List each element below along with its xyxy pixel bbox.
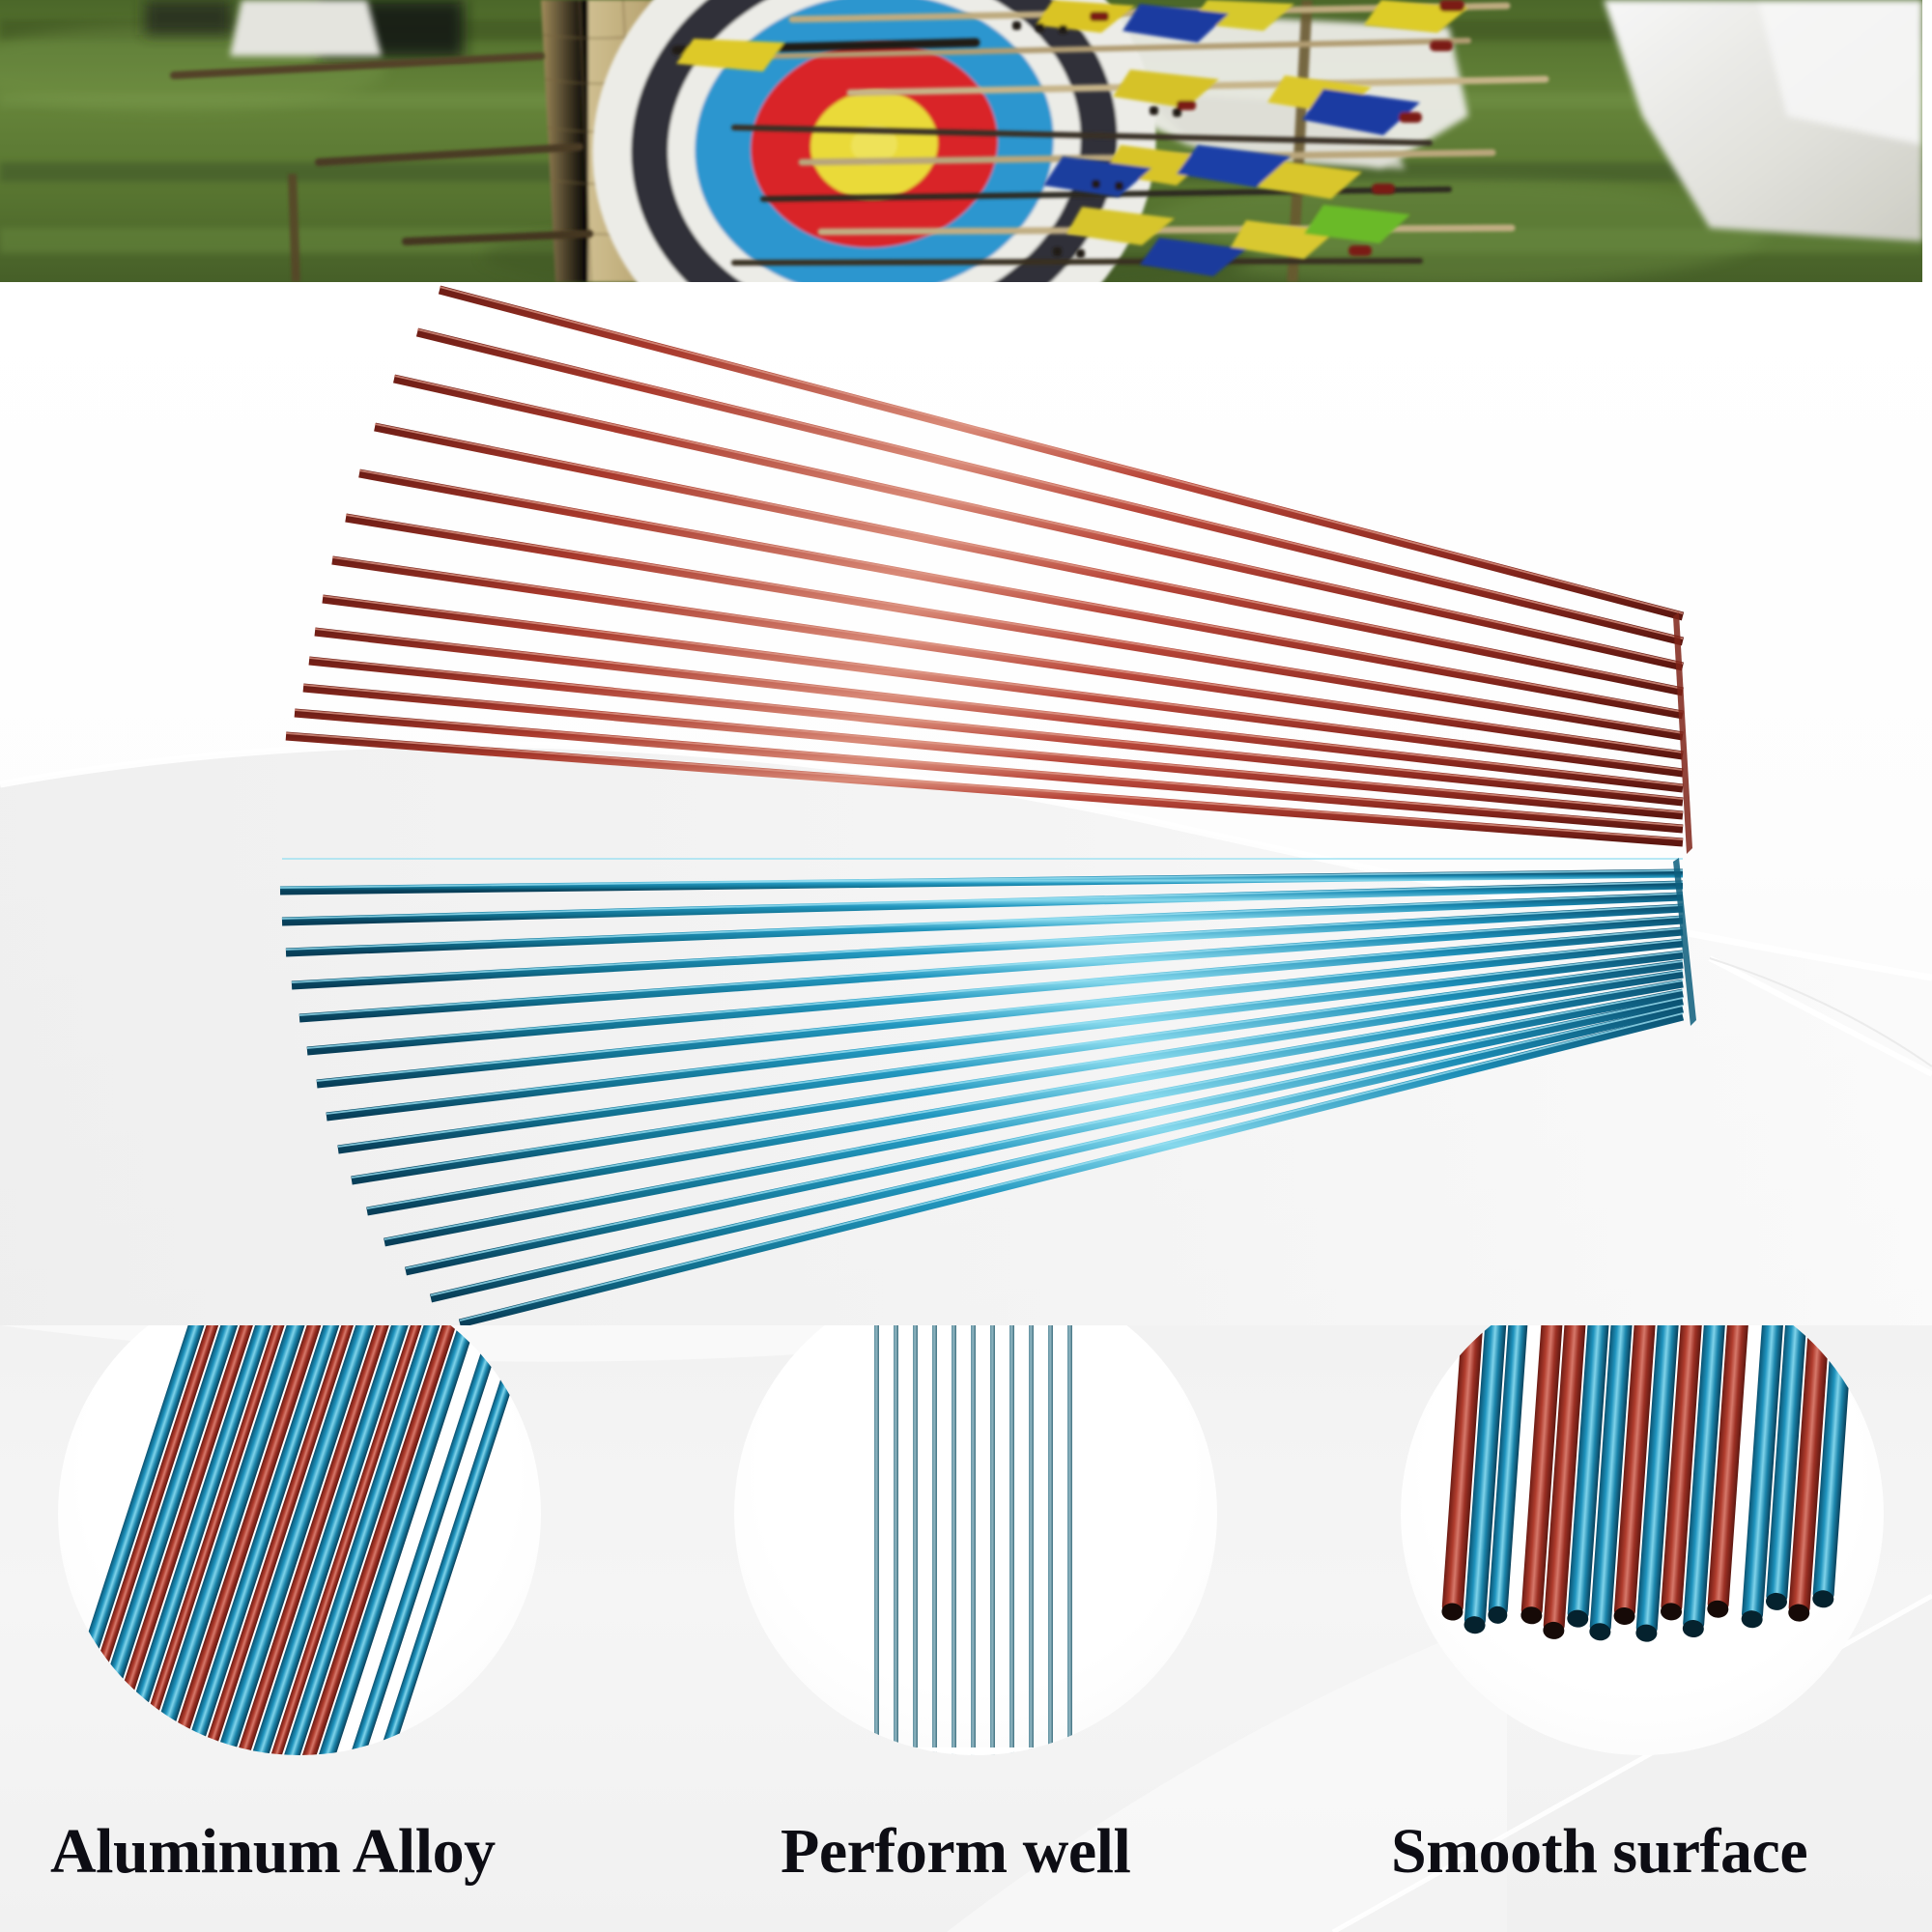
red-shaft-group	[286, 287, 1683, 842]
blue-shaft-group	[280, 859, 1683, 1323]
arrow-fan-hero	[0, 282, 1932, 1325]
feature-label-smooth-surface: Smooth surface	[1391, 1820, 1807, 1884]
arrow-shaft-fan-illustration	[0, 282, 1932, 1325]
banner-illustration	[0, 0, 1922, 282]
feature-label-aluminum-alloy: Aluminum Alloy	[50, 1820, 496, 1884]
product-detail-page: Aluminum Alloy Perform well Smooth surfa…	[0, 0, 1932, 1932]
feature-label-perform-well: Perform well	[781, 1820, 1130, 1884]
archery-banner-photo	[0, 0, 1922, 282]
